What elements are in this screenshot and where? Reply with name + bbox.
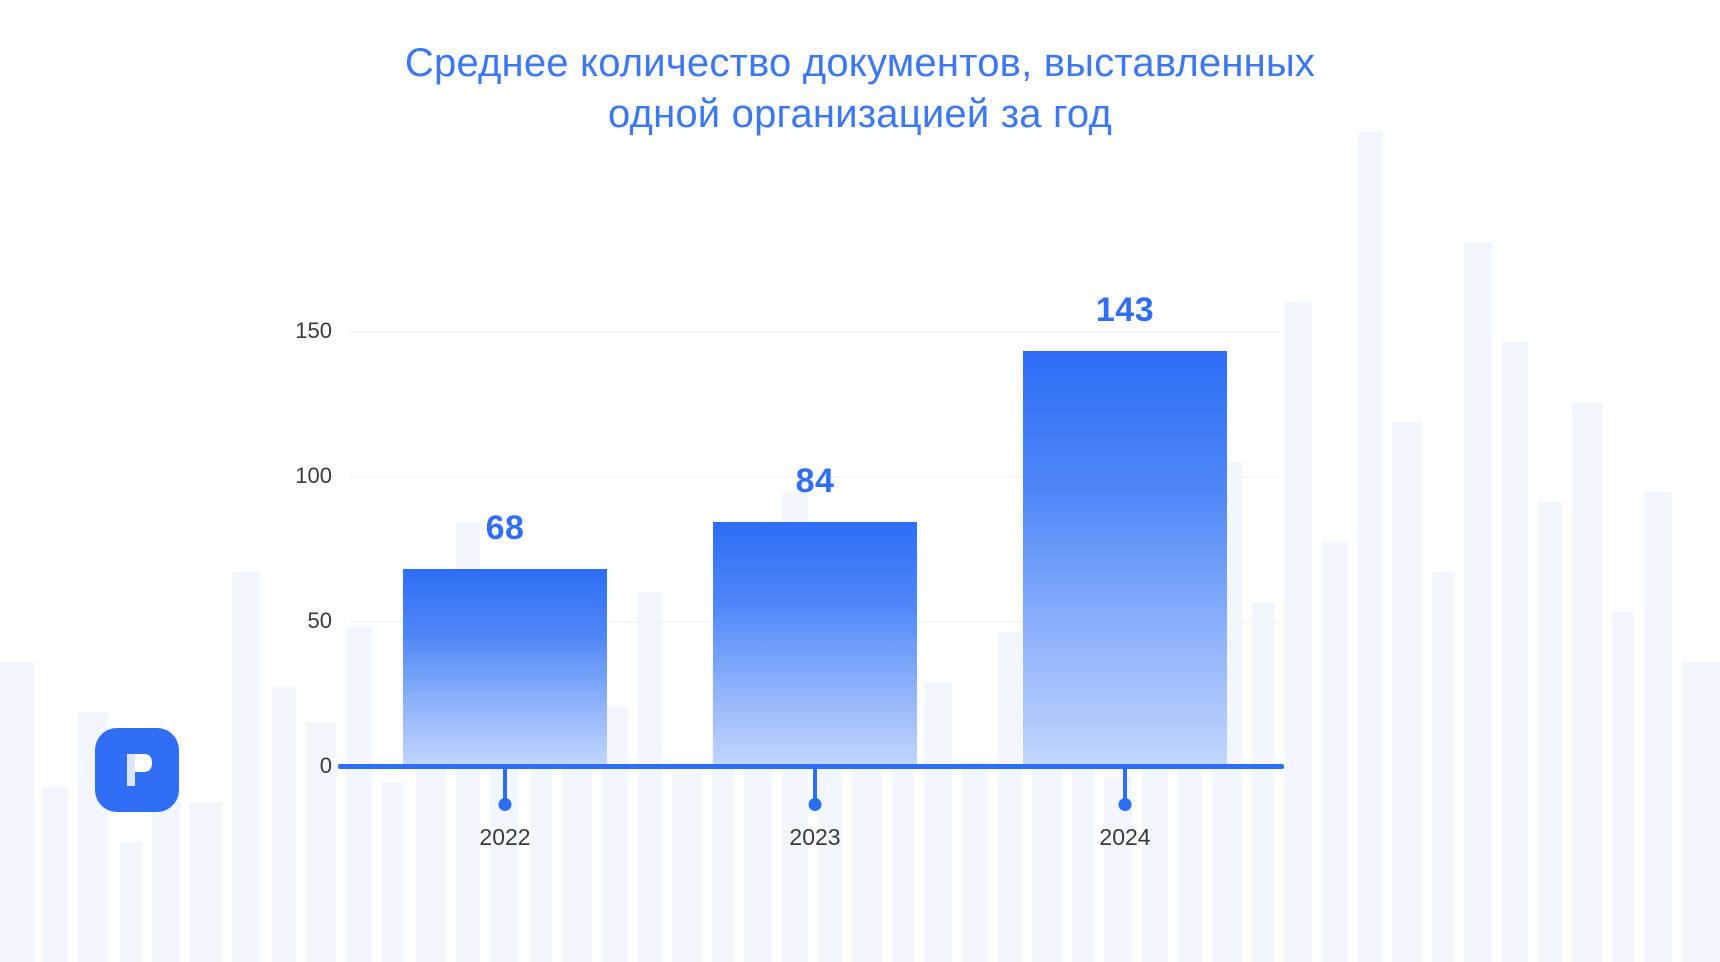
x-axis-tick-label: 2022 [479, 824, 530, 851]
decor-bar [382, 782, 404, 962]
y-axis-tick-label: 100 [295, 463, 332, 489]
decor-bar [530, 747, 552, 962]
decor-bar [1572, 402, 1602, 962]
x-axis-tick-dot [1119, 798, 1132, 811]
bar[interactable] [713, 522, 917, 766]
x-axis-tick-label: 2023 [789, 824, 840, 851]
decor-bar [672, 772, 702, 962]
app-logo-icon[interactable] [95, 728, 179, 812]
decor-bar [1538, 502, 1562, 962]
x-axis-tick-line [1123, 766, 1127, 802]
bar[interactable] [403, 569, 607, 766]
y-axis-tick-label: 50 [308, 608, 332, 634]
decor-bar [1358, 132, 1382, 962]
decor-bar [0, 662, 34, 962]
decor-bar [1284, 302, 1312, 962]
x-axis-tick-line [503, 766, 507, 802]
y-axis-tick-label: 150 [295, 318, 332, 344]
bar-value-label: 84 [796, 462, 835, 501]
decor-bar [1464, 242, 1492, 962]
x-axis-line [338, 764, 1284, 769]
x-axis-tick-dot [809, 798, 822, 811]
decor-bar [42, 787, 68, 962]
decor-bar [1612, 612, 1634, 962]
decor-bar [1432, 572, 1454, 962]
bar[interactable] [1023, 351, 1227, 766]
gridline [350, 331, 1280, 333]
y-axis-tick-label: 0 [320, 753, 332, 779]
decor-bar [1502, 342, 1528, 962]
decor-bar [1644, 492, 1672, 962]
x-axis-tick-line [813, 766, 817, 802]
decor-bar [962, 762, 988, 962]
page-title: Среднее количество документов, выставлен… [0, 38, 1720, 140]
x-axis-tick-label: 2024 [1099, 824, 1150, 851]
bar-value-label: 68 [486, 509, 525, 548]
decor-bar [1682, 662, 1720, 962]
decor-bar [232, 572, 260, 962]
decor-bar [1392, 422, 1422, 962]
decor-bar [272, 687, 296, 962]
bar-value-label: 143 [1096, 291, 1154, 330]
x-axis-tick-dot [499, 798, 512, 811]
decor-bar [120, 842, 142, 962]
bar-chart: 050100150 6884143 202220232024 [350, 302, 1280, 766]
decor-bar [1322, 542, 1348, 962]
decor-bar [190, 802, 222, 962]
